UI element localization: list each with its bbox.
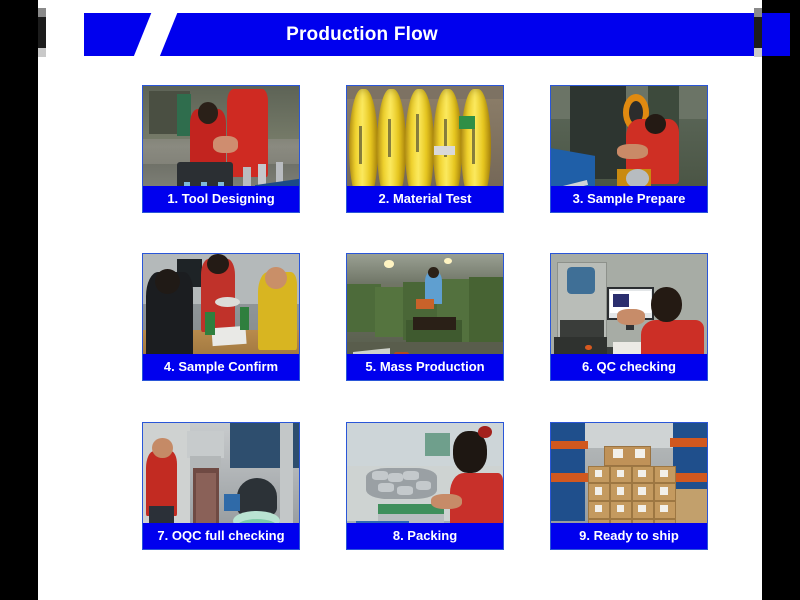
step-card-4[interactable]: 4. Sample Confirm xyxy=(142,253,300,381)
bottom-left-nub xyxy=(38,48,46,57)
step-caption-2: 2. Material Test xyxy=(346,186,504,212)
top-right-nub xyxy=(754,8,762,17)
step-caption-7: 7. OQC full checking xyxy=(142,523,300,549)
step-caption-9: 9. Ready to ship xyxy=(550,523,708,549)
production-flow-grid: 1. Tool Designing 2. Material Test xyxy=(104,85,760,565)
step-caption-4: 4. Sample Confirm xyxy=(142,354,300,380)
step-card-4-frame: 4. Sample Confirm xyxy=(142,253,300,381)
page-title: Production Flow xyxy=(84,13,790,56)
step-card-9[interactable]: 9. Ready to ship xyxy=(550,422,708,550)
step-card-1[interactable]: 1. Tool Designing xyxy=(142,85,300,213)
step-card-2[interactable]: 2. Material Test xyxy=(346,85,504,213)
letterbox-left xyxy=(0,0,38,600)
step-caption-3: 3. Sample Prepare xyxy=(550,186,708,212)
step-card-7[interactable]: 7. OQC full checking xyxy=(142,422,300,550)
step-card-6-frame: 6. QC checking xyxy=(550,253,708,381)
bottom-right-nub xyxy=(754,48,762,57)
step-card-9-frame: 9. Ready to ship xyxy=(550,422,708,550)
top-left-nub xyxy=(38,8,46,17)
slide-canvas: Production Flow 1. Tool Designing xyxy=(38,0,762,600)
step-caption-8: 8. Packing xyxy=(346,523,504,549)
header-banner: Production Flow xyxy=(84,13,790,56)
step-card-8[interactable]: 8. Packing xyxy=(346,422,504,550)
step-caption-5: 5. Mass Production xyxy=(346,354,504,380)
step-card-5-frame: 5. Mass Production xyxy=(346,253,504,381)
step-caption-6: 6. QC checking xyxy=(550,354,708,380)
step-card-3-frame: 3. Sample Prepare xyxy=(550,85,708,213)
step-card-7-frame: 7. OQC full checking xyxy=(142,422,300,550)
step-card-1-frame: 1. Tool Designing xyxy=(142,85,300,213)
slide-screen: Production Flow 1. Tool Designing xyxy=(0,0,800,600)
step-caption-1: 1. Tool Designing xyxy=(142,186,300,212)
step-card-8-frame: 8. Packing xyxy=(346,422,504,550)
step-card-2-frame: 2. Material Test xyxy=(346,85,504,213)
step-card-6[interactable]: 6. QC checking xyxy=(550,253,708,381)
step-card-3[interactable]: 3. Sample Prepare xyxy=(550,85,708,213)
step-card-5[interactable]: 5. Mass Production xyxy=(346,253,504,381)
letterbox-right xyxy=(762,0,800,600)
